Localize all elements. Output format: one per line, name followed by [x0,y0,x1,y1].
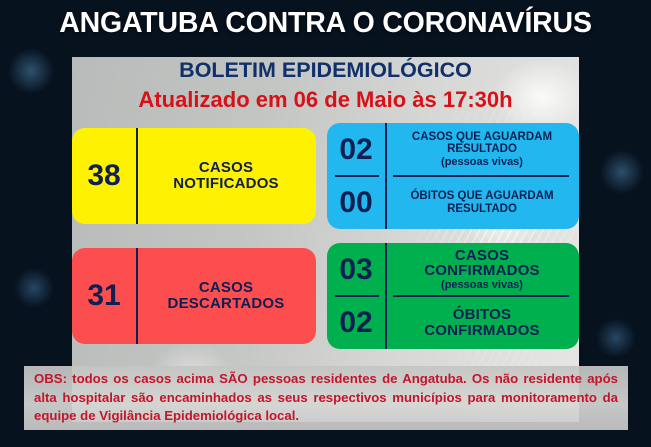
card-aguardam-resultado: 02 CASOS QUE AGUARDAM RESULTADO (pessoas… [327,123,579,229]
casos-descartados-value: 31 [87,281,120,311]
card-value-column: 02 [327,123,385,176]
card-casos-notificados: 38 CASOS NOTIFICADOS [72,128,316,224]
observation-text: OBS: todos os casos acima SÃO pessoas re… [34,370,618,426]
obitos-confirmados-label-line2: CONFIRMADOS [424,323,540,339]
card-confirmados: 03 CASOS CONFIRMADOS (pessoas vivas) 02 … [327,243,579,349]
updated-timestamp: Atualizado em 06 de Maio às 17:30h [0,87,651,113]
casos-notificados-label-line2: NOTIFICADOS [173,176,279,192]
casos-confirmados-value: 03 [339,255,372,285]
card-value-column: 31 [72,248,136,344]
card-value-column: 03 [327,243,385,296]
casos-aguardam-label-line2: RESULTADO [447,143,517,155]
casos-aguardam-value: 02 [339,135,372,165]
row-obitos-aguardam: 00 ÓBITOS QUE AGUARDAM RESULTADO [327,176,579,229]
row-obitos-confirmados: 02 ÓBITOS CONFIRMADOS [327,296,579,349]
casos-aguardam-note: (pessoas vivas) [441,156,523,168]
card-value-column: 02 [327,296,385,349]
obitos-aguardam-value: 00 [339,188,372,218]
card-label-column: ÓBITOS CONFIRMADOS [385,296,579,349]
obitos-aguardam-label-line2: RESULTADO [447,203,517,215]
observation-block: OBS: todos os casos acima SÃO pessoas re… [24,366,628,430]
row-casos-aguardam: 02 CASOS QUE AGUARDAM RESULTADO (pessoas… [327,123,579,176]
virus-blob-decoration [600,150,644,194]
casos-confirmados-note: (pessoas vivas) [441,279,523,291]
page-title: ANGATUBA CONTRA O CORONAVÍRUS [0,7,651,40]
casos-aguardam-label-line1: CASOS QUE AGUARDAM [412,131,552,143]
card-value-column: 00 [327,176,385,229]
casos-notificados-value: 38 [87,161,120,191]
card-label-column: CASOS DESCARTADOS [136,248,316,344]
virus-blob-decoration [14,268,54,308]
casos-confirmados-label-line2: CONFIRMADOS [424,263,540,279]
casos-confirmados-label-line1: CASOS [455,248,509,264]
obitos-aguardam-label-line1: ÓBITOS QUE AGUARDAM [410,190,553,202]
card-divider [136,128,138,224]
card-label-column: CASOS CONFIRMADOS (pessoas vivas) [385,243,579,296]
casos-notificados-label-line1: CASOS [199,160,253,176]
casos-descartados-label-line2: DESCARTADOS [168,296,285,312]
card-value-column: 38 [72,128,136,224]
row-casos-confirmados: 03 CASOS CONFIRMADOS (pessoas vivas) [327,243,579,296]
page-subtitle: BOLETIM EPIDEMIOLÓGICO [0,58,651,83]
card-label-column: ÓBITOS QUE AGUARDAM RESULTADO [385,176,579,229]
card-label-column: CASOS QUE AGUARDAM RESULTADO (pessoas vi… [385,123,579,176]
virus-blob-decoration [596,318,636,358]
card-casos-descartados: 31 CASOS DESCARTADOS [72,248,316,344]
casos-descartados-label-line1: CASOS [199,280,253,296]
epidemiological-bulletin-poster: ANGATUBA CONTRA O CORONAVÍRUS BOLETIM EP… [0,0,651,447]
obitos-confirmados-label-line1: ÓBITOS [453,307,511,323]
card-divider [136,248,138,344]
card-label-column: CASOS NOTIFICADOS [136,128,316,224]
obitos-confirmados-value: 02 [339,308,372,338]
